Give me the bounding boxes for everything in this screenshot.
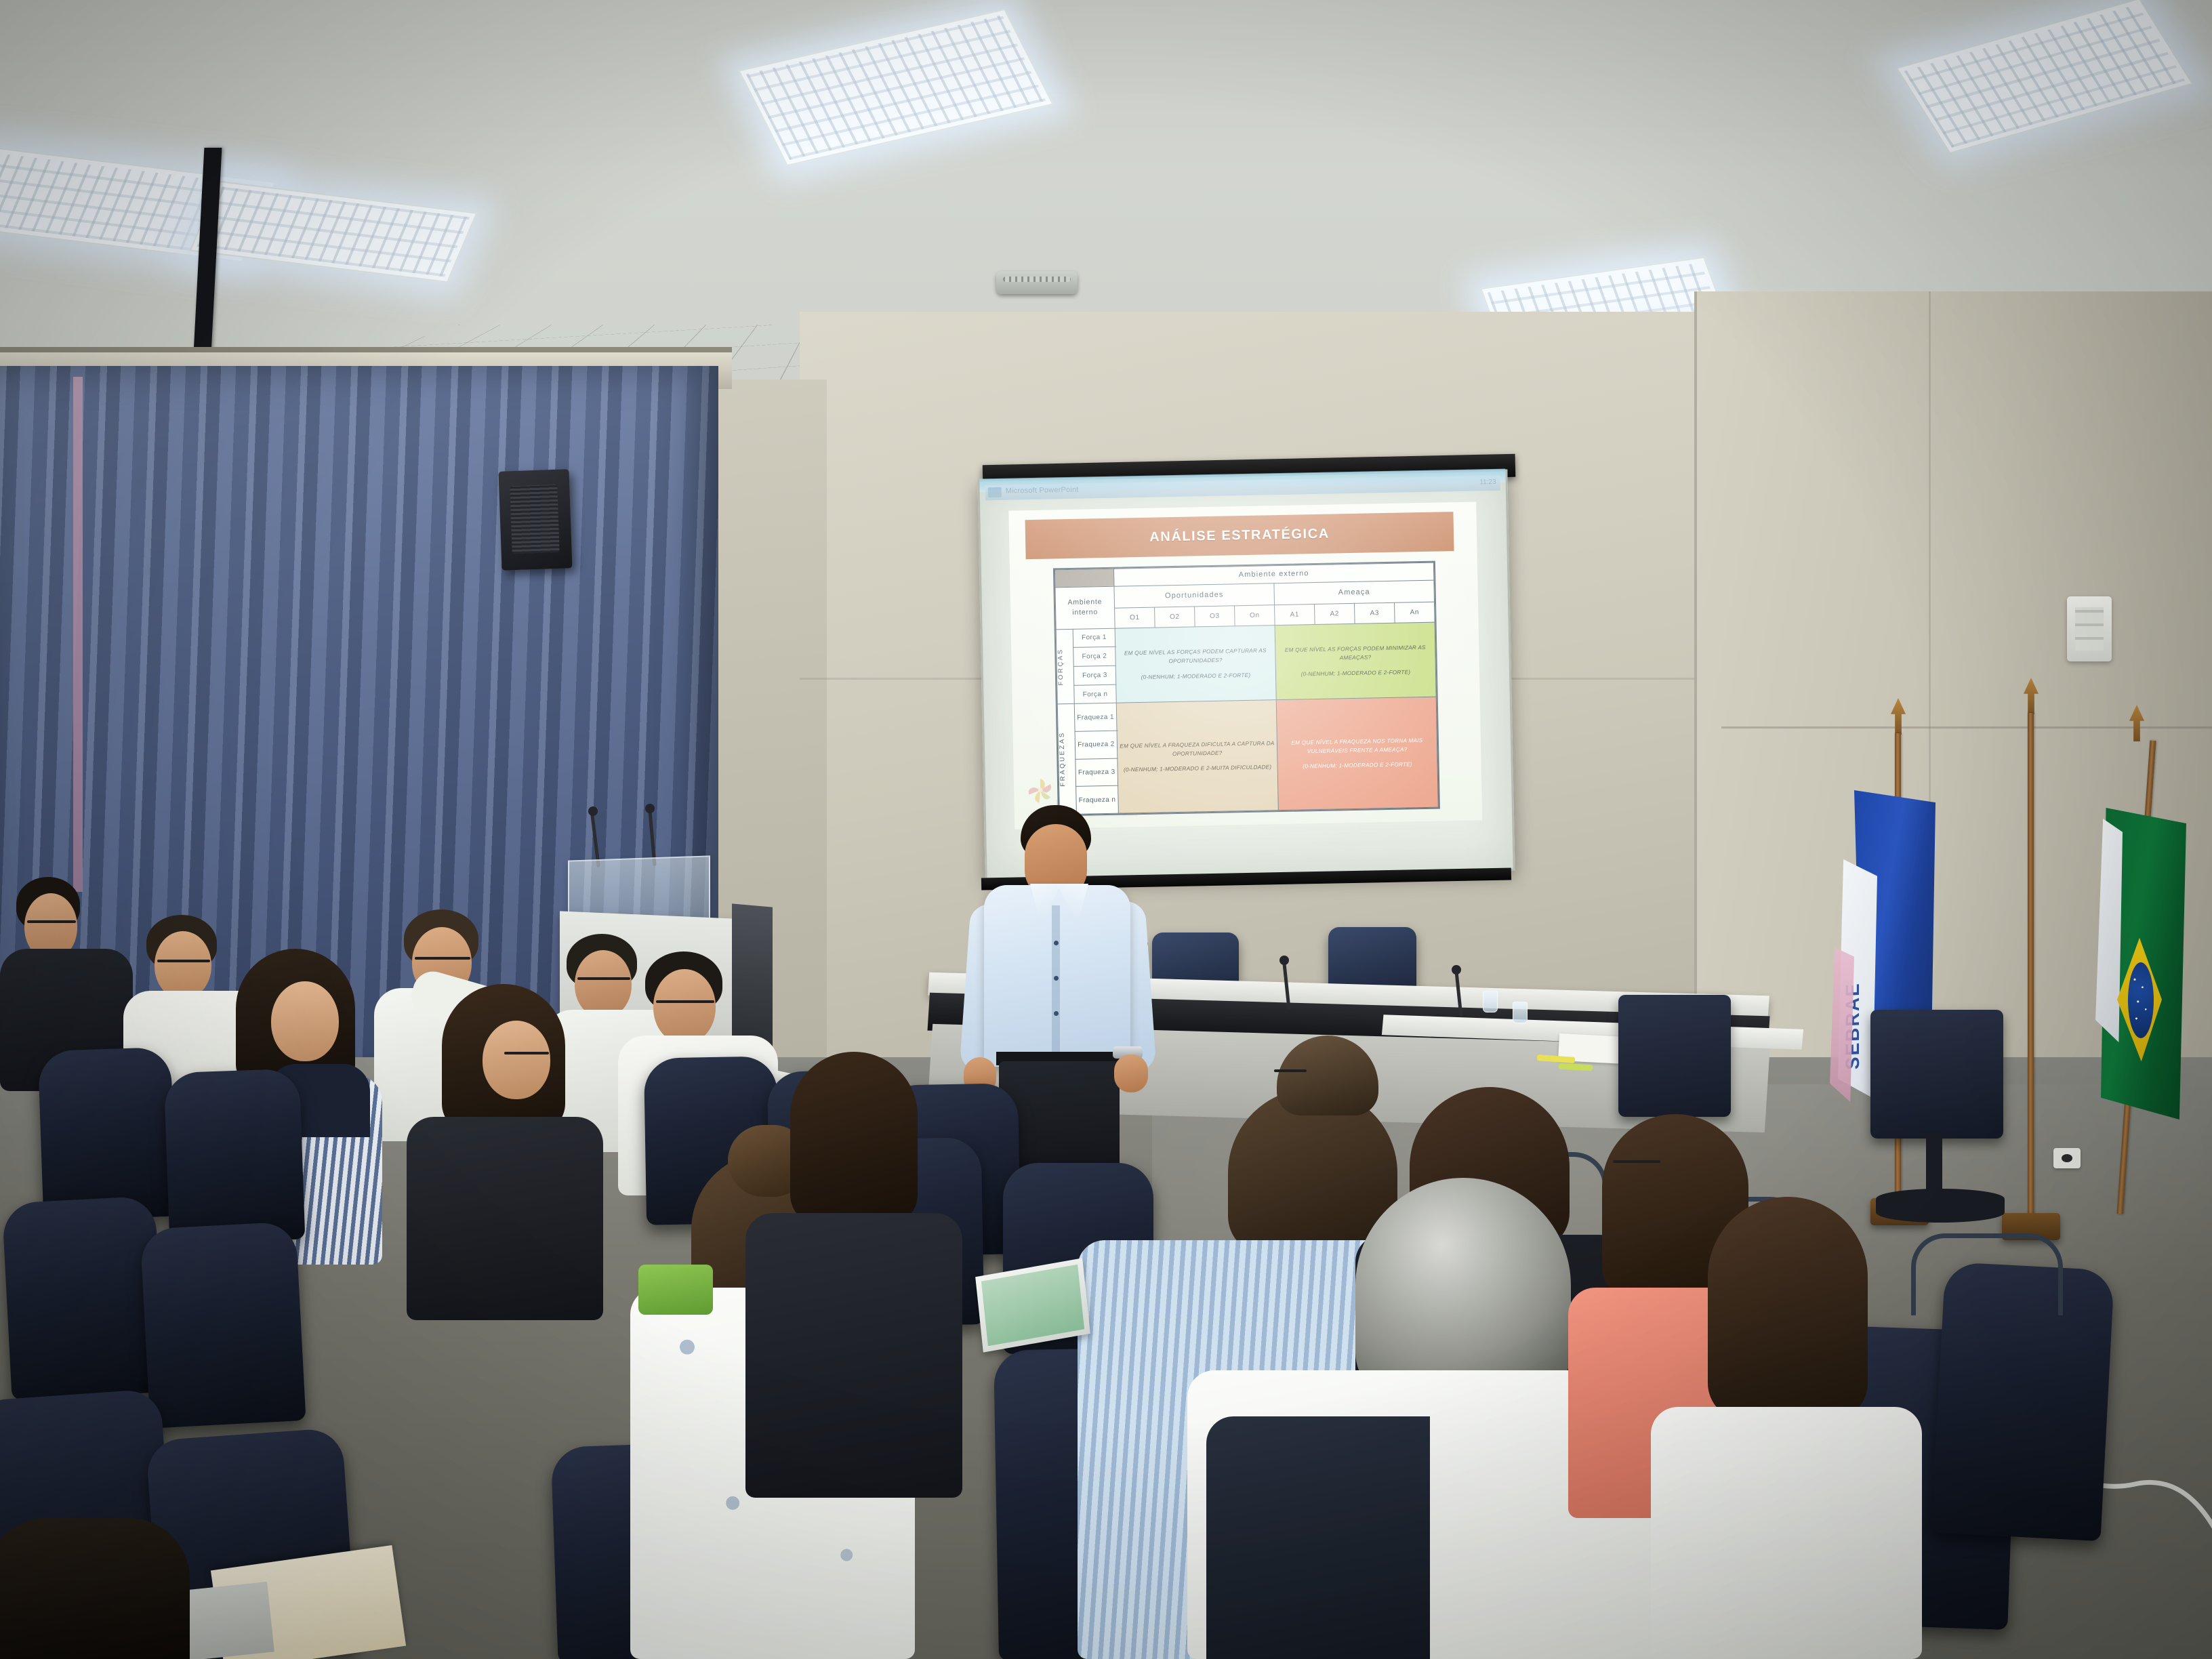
internal-header-line2: interno: [1072, 608, 1098, 617]
person-torso: [407, 1117, 603, 1320]
shirt-button: [1054, 941, 1059, 945]
person-head: [575, 950, 632, 1018]
col-code-a3: A3: [1354, 602, 1395, 623]
person-dark-vest: [1206, 1416, 1430, 1659]
quadrant-weaknesses-opportunities: EM QUE NÍVEL A FRAQUEZA DIFICULTA A CAPT…: [1116, 700, 1278, 813]
opportunities-group-header: Oportunidades: [1114, 583, 1275, 608]
pinwheel-logo-icon: [1026, 775, 1055, 804]
light-switch-panel[interactable]: [2067, 596, 2112, 661]
office-chair-post: [1926, 1133, 1942, 1197]
matrix-table: Ambiente externo Ambiente interno Oportu…: [1054, 562, 1439, 815]
internal-environment-header: Ambiente interno: [1055, 586, 1115, 630]
threats-group-header: Ameaça: [1274, 580, 1435, 605]
smoke-detector: [996, 271, 1078, 294]
audience-chair[interactable]: [140, 1221, 306, 1429]
quadrant-strengths-threats: EM QUE NÍVEL AS FORÇAS PODEM MINIMIZAR A…: [1275, 622, 1436, 700]
water-glass[interactable]: [1513, 1002, 1528, 1023]
eyeglasses: [1613, 1160, 1660, 1163]
office-chair-backrest[interactable]: [1618, 995, 1731, 1117]
taskbar-clock: 11:23: [1479, 478, 1496, 486]
row-group-label-fraquezas: FRAQUEZAS: [1057, 704, 1076, 815]
quadrant-scale: (0-NENHUM; 1-MODERADO E 2-FORTE): [1277, 760, 1437, 772]
row-label-fraqueza-2: Fraqueza 2: [1075, 731, 1118, 759]
eyeglasses: [577, 977, 630, 980]
quadrant-question: EM QUE NÍVEL AS FORÇAS PODEM CAPTURAR AS…: [1115, 646, 1275, 667]
row-label-forca-1: Força 1: [1073, 628, 1115, 648]
person-gray-hair: [1355, 1178, 1571, 1401]
shirt-button: [1054, 1011, 1059, 1016]
eyeglasses: [656, 1000, 714, 1003]
microphone-capsule: [1279, 956, 1289, 965]
quadrant-question: EM QUE NÍVEL A FRAQUEZA NOS TORNA MAIS V…: [1277, 735, 1437, 756]
eyeglasses: [504, 1052, 549, 1054]
audience-chair[interactable]: [164, 1069, 306, 1244]
brazil-flag-stars: [2131, 968, 2151, 1033]
curtain-accent-strip: [73, 377, 83, 892]
microphone-capsule: [588, 806, 598, 816]
col-code-o3: O3: [1195, 606, 1235, 627]
audience-chair[interactable]: [38, 1047, 177, 1221]
col-code-a2: A2: [1315, 603, 1355, 624]
row-group-label-forcas: FORÇAS: [1056, 629, 1074, 704]
conference-room-photo: Microsoft PowerPoint 11:23 ANÁLISE ESTRA…: [0, 0, 2212, 1659]
presenter-right-hand: [1114, 1054, 1148, 1092]
start-button[interactable]: [988, 487, 1002, 497]
row-label-forca-3: Força 3: [1073, 665, 1116, 685]
empty-flagpole: [2028, 713, 2034, 1223]
col-code-a1: A1: [1275, 604, 1315, 625]
person-head: [271, 981, 339, 1061]
col-code-an: An: [1394, 602, 1435, 623]
person-torso-white-top: [1651, 1407, 1922, 1659]
green-bag[interactable]: [638, 1265, 713, 1315]
slide-title: ANÁLISE ESTRATÉGICA: [1149, 526, 1330, 545]
col-code-on: On: [1235, 605, 1275, 626]
row-group-text: FRAQUEZAS: [1059, 732, 1067, 787]
eyeglasses: [415, 957, 470, 960]
matrix-corner-gray: [1054, 569, 1113, 587]
col-code-o1: O1: [1115, 607, 1155, 628]
chair-chrome-frame: [1911, 1233, 2063, 1315]
microphone-capsule: [645, 804, 655, 813]
audience-chair[interactable]: [2, 1195, 165, 1399]
row-group-text: FORÇAS: [1057, 648, 1065, 685]
wall-outlet[interactable]: [2053, 1148, 2081, 1168]
wall-speaker: [498, 469, 572, 571]
row-label-forca-n: Força n: [1074, 684, 1117, 704]
row-label-forca-2: Força 2: [1073, 647, 1116, 666]
row-label-fraqueza-3: Fraqueza 3: [1076, 758, 1118, 787]
presenter-shirt-placket: [1052, 905, 1060, 1059]
swot-cross-impact-matrix: Ambiente externo Ambiente interno Oportu…: [1053, 561, 1440, 817]
internal-header-line1: Ambiente: [1067, 598, 1102, 607]
powerpoint-slide: ANÁLISE ESTRATÉGICA: [1008, 501, 1482, 829]
quadrant-question: EM QUE NÍVEL AS FORÇAS PODEM MINIMIZAR A…: [1275, 643, 1435, 664]
person-head: [483, 1021, 550, 1099]
eyeglasses: [1274, 1069, 1307, 1072]
shirt-button: [1054, 976, 1059, 981]
laptop-display: [981, 1265, 1084, 1347]
slide-title-bar: ANÁLISE ESTRATÉGICA: [1025, 512, 1454, 559]
row-label-fraqueza-1: Fraqueza 1: [1074, 703, 1117, 732]
quadrant-scale: (0-NENHUM; 1-MODERADO E 2-MUITA DIFICULD…: [1118, 762, 1277, 775]
row-label-fraqueza-n: Fraqueza n: [1076, 785, 1119, 814]
eyeglasses: [157, 960, 210, 962]
quadrant-strengths-opportunities: EM QUE NÍVEL AS FORÇAS PODEM CAPTURAR AS…: [1115, 625, 1276, 703]
quadrant-question: EM QUE NÍVEL A FRAQUEZA DIFICULTA A CAPT…: [1118, 739, 1277, 760]
audience-member-foreground: [0, 1518, 190, 1659]
quadrant-scale: (0-NENHUM; 1-MODERADO E 2-FORTE): [1116, 670, 1275, 682]
quadrant-weaknesses-threats: EM QUE NÍVEL A FRAQUEZA NOS TORNA MAIS V…: [1276, 697, 1438, 810]
microphone-capsule: [1452, 965, 1461, 975]
col-code-o2: O2: [1155, 607, 1195, 628]
office-chair-backrest[interactable]: [1870, 1010, 2003, 1139]
person-hair: [1708, 1197, 1868, 1420]
person-torso: [745, 1213, 962, 1498]
person-head: [653, 969, 716, 1044]
person-hair: [790, 1052, 918, 1225]
office-chair-base: [1876, 1189, 2005, 1223]
water-glass[interactable]: [1483, 991, 1498, 1012]
eyeglasses: [27, 920, 76, 923]
person-head: [155, 931, 211, 999]
quadrant-scale: (0-NENHUM; 1-MODERADO E 2-FORTE): [1276, 667, 1435, 679]
taskbar-window-label[interactable]: Microsoft PowerPoint: [1006, 486, 1079, 495]
